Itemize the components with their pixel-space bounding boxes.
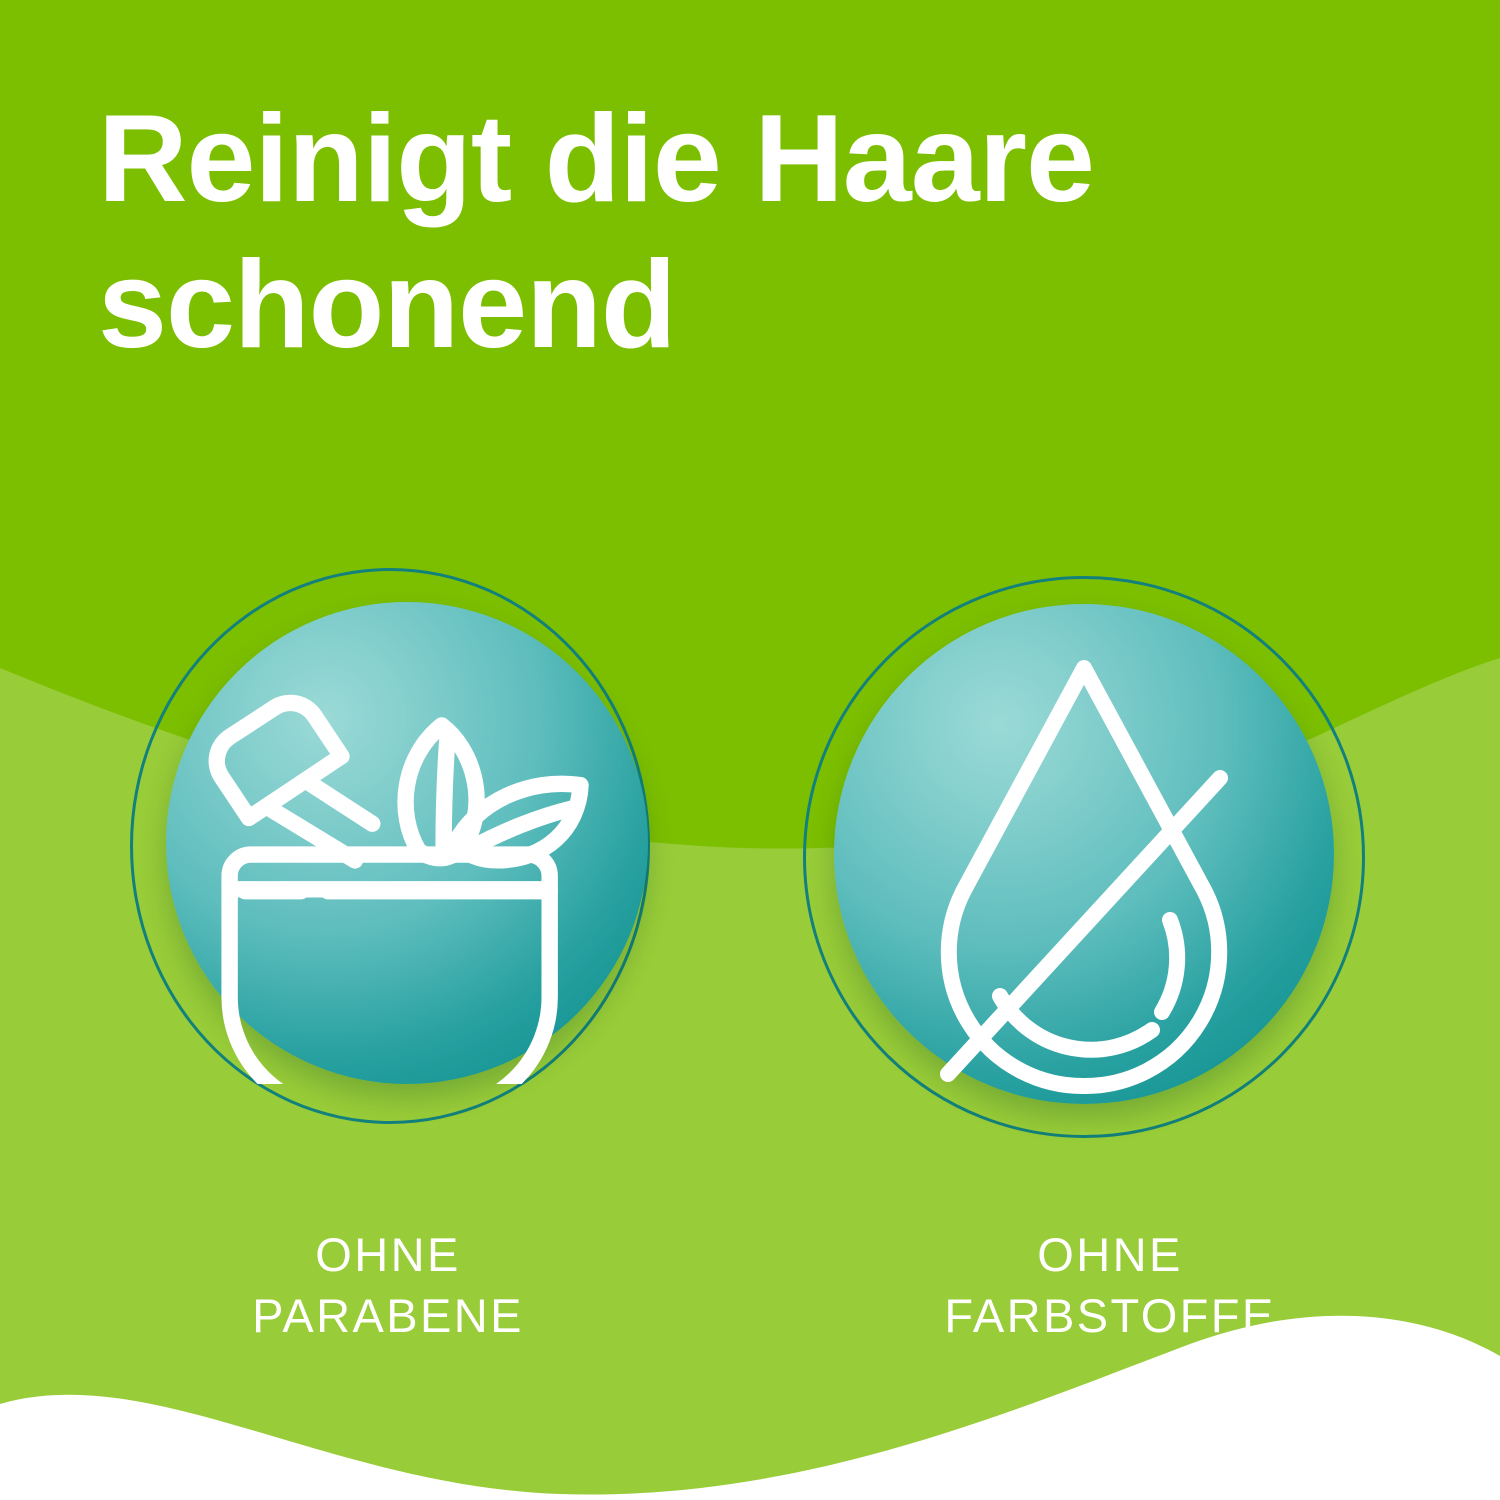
badge-caption-ohne-parabene: OHNE PARABENE <box>88 1224 688 1346</box>
water-droplet-crossed-out-icon <box>834 604 1334 1104</box>
badge-caption-ohne-farbstoffe: OHNE FARBSTOFFE <box>810 1224 1410 1346</box>
page-title: Reinigt die Haare schonend <box>98 86 1248 379</box>
badge-ohne-farbstoffe[interactable] <box>790 572 1350 1132</box>
mortar-and-pestle-with-leaves-icon <box>166 602 648 1084</box>
product-feature-banner: Reinigt die Haare schonend <box>0 0 1500 1500</box>
badge-ohne-parabene[interactable] <box>108 562 668 1122</box>
